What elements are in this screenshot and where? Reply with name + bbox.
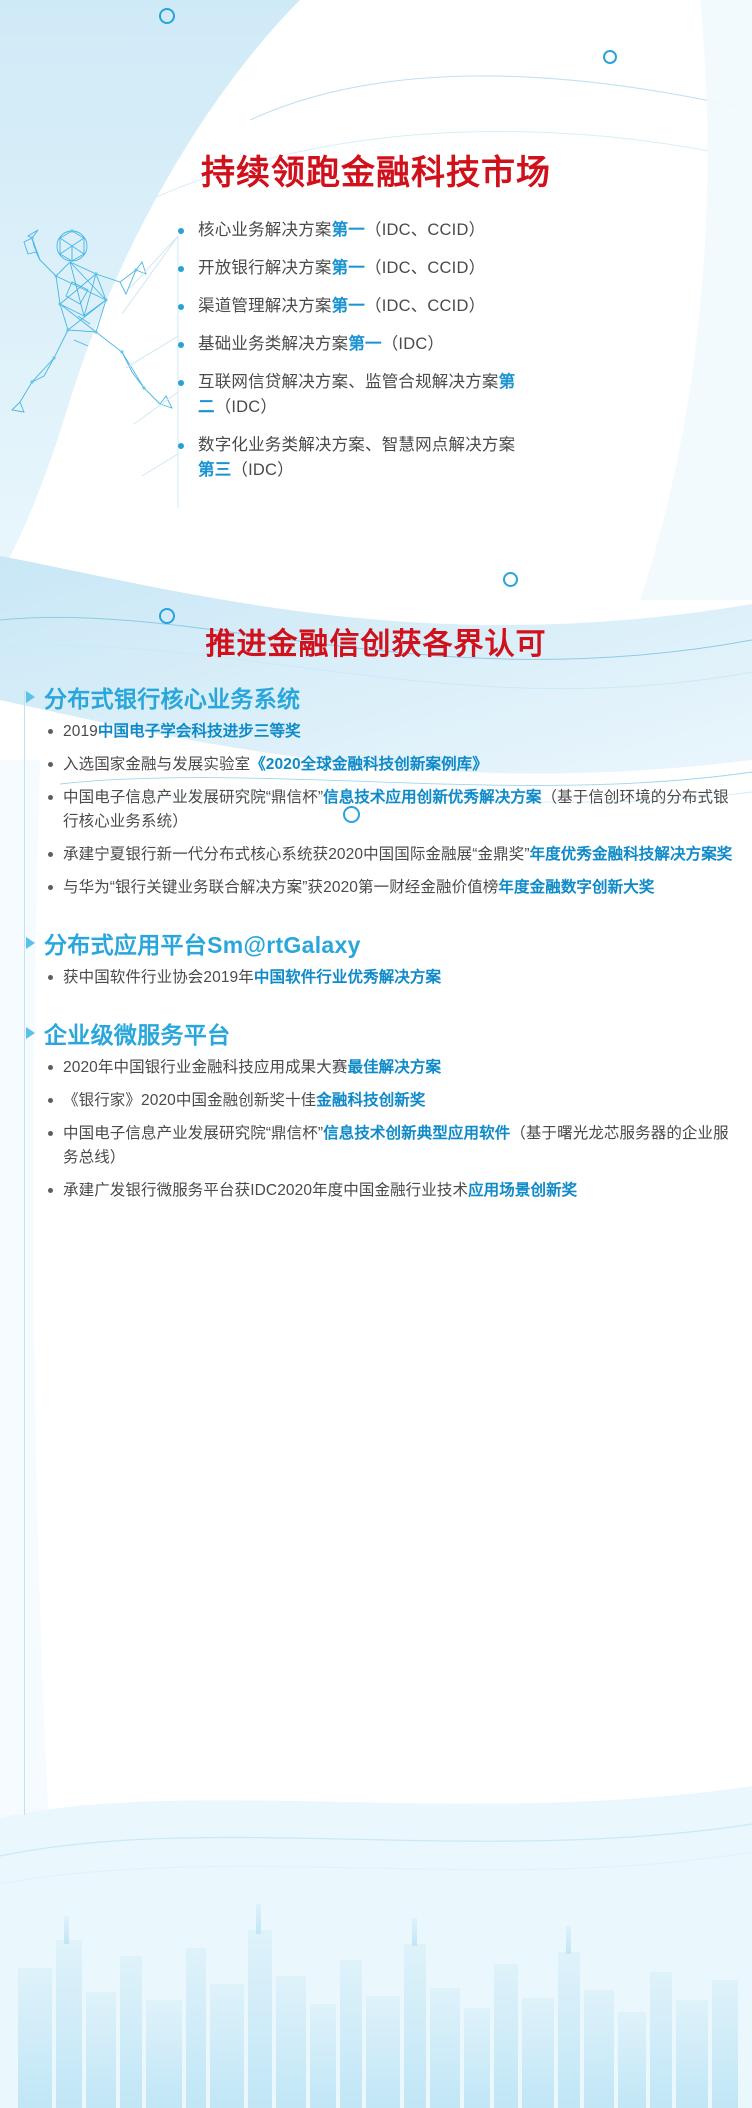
group-title-text: 分布式应用平台Sm@rtGalaxy [44, 926, 361, 960]
group-heading: 分布式应用平台Sm@rtGalaxy [0, 926, 752, 960]
list-item: 基础业务类解决方案第一（IDC） [178, 332, 738, 357]
bullet-dot-icon [178, 380, 184, 386]
section2-title: 推进金融信创获各界认可 [0, 625, 752, 665]
list-item-text: 《银行家》2020中国金融创新奖十佳金融科技创新奖 [63, 1089, 736, 1113]
decor-ring-icon [603, 50, 617, 64]
list-item: 中国电子信息产业发展研究院“鼎信杯”信息技术创新典型应用软件（基于曙光龙芯服务器… [48, 1122, 736, 1170]
bullet-dot-icon [178, 342, 184, 348]
section-fintech-recognition: 分布式银行核心业务系统 2019中国电子学会科技进步三等奖 入选国家金融与发展实… [0, 680, 752, 1212]
list-item-text: 入选国家金融与发展实验室《2020全球金融科技创新案例库》 [63, 753, 736, 777]
list-item: 与华为“银行关键业务联合解决方案”获2020第一财经金融价值榜年度金融数字创新大… [48, 876, 736, 900]
bullet-dot-icon [48, 795, 53, 800]
bullet-dot-icon [48, 885, 53, 890]
group-enterprise-microservice-platform: 企业级微服务平台 2020年中国银行业金融科技应用成果大赛最佳解决方案 《银行家… [0, 1016, 752, 1203]
list-item-text: 中国电子信息产业发展研究院“鼎信杯”信息技术应用创新优秀解决方案（基于信创环境的… [63, 786, 736, 834]
bullet-dot-icon [48, 1098, 53, 1103]
group-heading: 分布式银行核心业务系统 [0, 680, 752, 714]
section1-title: 持续领跑金融科技市场 [0, 152, 752, 194]
list-item-text: 与华为“银行关键业务联合解决方案”获2020第一财经金融价值榜年度金融数字创新大… [63, 876, 736, 900]
list-item-text: 数字化业务类解决方案、智慧网点解决方案第三（IDC） [198, 433, 528, 483]
list-item: 中国电子信息产业发展研究院“鼎信杯”信息技术应用创新优秀解决方案（基于信创环境的… [48, 786, 736, 834]
list-item: 数字化业务类解决方案、智慧网点解决方案第三（IDC） [178, 433, 738, 483]
triangle-marker-icon [26, 937, 35, 949]
list-item: 入选国家金融与发展实验室《2020全球金融科技创新案例库》 [48, 753, 736, 777]
triangle-marker-icon [26, 1027, 35, 1039]
list-item: 获中国软件行业协会2019年中国软件行业优秀解决方案 [48, 966, 736, 990]
list-item-text: 渠道管理解决方案第一（IDC、CCID） [198, 294, 738, 319]
list-item: 承建宁夏银行新一代分布式核心系统获2020中国国际金融展“金鼎奖”年度优秀金融科… [48, 843, 736, 867]
bullet-dot-icon [48, 762, 53, 767]
group-item-list: 2019中国电子学会科技进步三等奖 入选国家金融与发展实验室《2020全球金融科… [0, 720, 752, 900]
list-item: 渠道管理解决方案第一（IDC、CCID） [178, 294, 738, 319]
list-item-text: 承建广发银行微服务平台获IDC2020年度中国金融行业技术应用场景创新奖 [63, 1179, 736, 1203]
list-item: 核心业务解决方案第一（IDC、CCID） [178, 218, 738, 243]
bullet-dot-icon [178, 228, 184, 234]
decor-ring-icon [159, 608, 175, 624]
group-item-list: 2020年中国银行业金融科技应用成果大赛最佳解决方案 《银行家》2020中国金融… [0, 1056, 752, 1203]
list-item: 承建广发银行微服务平台获IDC2020年度中国金融行业技术应用场景创新奖 [48, 1179, 736, 1203]
list-item: 《银行家》2020中国金融创新奖十佳金融科技创新奖 [48, 1089, 736, 1113]
list-item-text: 2019中国电子学会科技进步三等奖 [63, 720, 736, 744]
list-item-text: 互联网信贷解决方案、监管合规解决方案第二（IDC） [198, 370, 528, 420]
list-item: 开放银行解决方案第一（IDC、CCID） [178, 256, 738, 281]
bullet-dot-icon [48, 975, 53, 980]
list-item-text: 中国电子信息产业发展研究院“鼎信杯”信息技术创新典型应用软件（基于曙光龙芯服务器… [63, 1122, 736, 1170]
group-heading: 企业级微服务平台 [0, 1016, 752, 1050]
list-item: 互联网信贷解决方案、监管合规解决方案第二（IDC） [178, 370, 738, 420]
bullet-dot-icon [178, 304, 184, 310]
list-item-text: 承建宁夏银行新一代分布式核心系统获2020中国国际金融展“金鼎奖”年度优秀金融科… [63, 843, 736, 867]
bullet-dot-icon [48, 1065, 53, 1070]
bullet-dot-icon [48, 1131, 53, 1136]
decor-ring-icon [503, 572, 518, 587]
list-item-text: 开放银行解决方案第一（IDC、CCID） [198, 256, 738, 281]
group-smart-galaxy-platform: 分布式应用平台Sm@rtGalaxy 获中国软件行业协会2019年中国软件行业优… [0, 926, 752, 990]
group-title-text: 企业级微服务平台 [44, 1016, 230, 1050]
list-item: 2019中国电子学会科技进步三等奖 [48, 720, 736, 744]
section1-bullet-list: 核心业务解决方案第一（IDC、CCID） 开放银行解决方案第一（IDC、CCID… [178, 218, 738, 496]
bullet-dot-icon [48, 1188, 53, 1193]
group-title-text: 分布式银行核心业务系统 [44, 680, 300, 714]
list-item-text: 2020年中国银行业金融科技应用成果大赛最佳解决方案 [63, 1056, 736, 1080]
list-item-text: 基础业务类解决方案第一（IDC） [198, 332, 738, 357]
decor-ring-icon [159, 8, 175, 24]
triangle-marker-icon [26, 691, 35, 703]
list-item: 2020年中国银行业金融科技应用成果大赛最佳解决方案 [48, 1056, 736, 1080]
bullet-dot-icon [48, 729, 53, 734]
bullet-dot-icon [48, 852, 53, 857]
list-item-text: 获中国软件行业协会2019年中国软件行业优秀解决方案 [63, 966, 736, 990]
list-item-text: 核心业务解决方案第一（IDC、CCID） [198, 218, 738, 243]
poster-root: 持续领跑金融科技市场 [0, 0, 752, 2108]
group-item-list: 获中国软件行业协会2019年中国软件行业优秀解决方案 [0, 966, 752, 990]
bullet-dot-icon [178, 266, 184, 272]
group-distributed-core-system: 分布式银行核心业务系统 2019中国电子学会科技进步三等奖 入选国家金融与发展实… [0, 680, 752, 900]
bullet-dot-icon [178, 443, 184, 449]
